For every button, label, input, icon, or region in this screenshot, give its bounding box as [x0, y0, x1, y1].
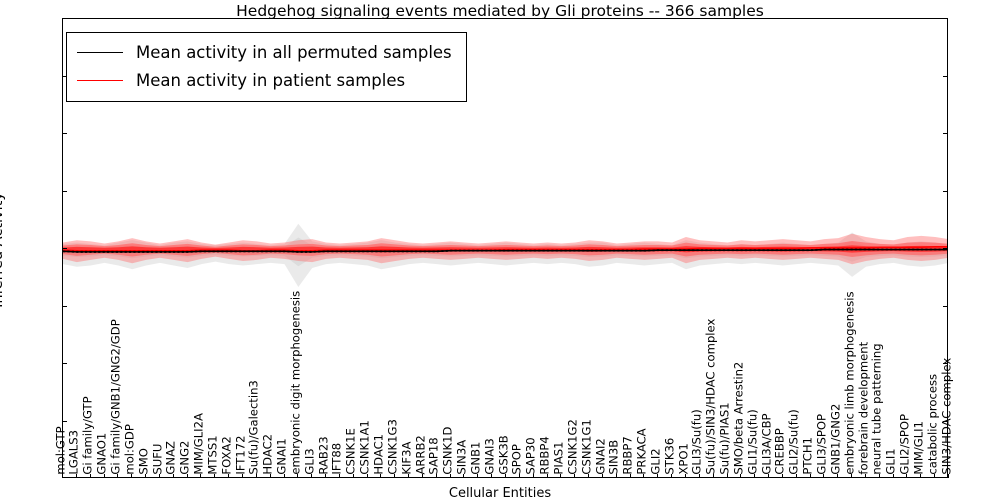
x-tick-label: SAP18	[429, 438, 441, 475]
x-tick-mark	[602, 474, 603, 478]
x-tick-mark	[159, 474, 160, 478]
legend-line-patient-icon	[77, 80, 123, 81]
x-tick-mark	[810, 474, 811, 478]
x-tick-mark	[588, 474, 589, 478]
x-tick-label: IFT172	[235, 436, 247, 475]
x-tick-mark	[256, 474, 257, 478]
x-tick-label: SPOP	[512, 445, 524, 475]
x-tick-label: CSNK1G3	[387, 420, 399, 475]
x-tick-mark	[782, 474, 783, 478]
x-tick-mark	[353, 474, 354, 478]
x-tick-mark	[616, 474, 617, 478]
x-tick-mark	[934, 474, 935, 478]
x-tick-mark	[948, 474, 949, 478]
x-tick-label: GNAI1	[277, 439, 289, 475]
x-tick-label: ARRB2	[415, 436, 427, 475]
x-tick-mark	[657, 474, 658, 478]
x-tick-mark	[200, 474, 201, 478]
y-tick-mark	[62, 421, 67, 422]
x-tick-mark	[76, 474, 77, 478]
x-tick-label: MIM/GLI2A	[193, 413, 205, 475]
x-tick-label: CREBBP	[775, 429, 787, 475]
x-tick-label: embryonic limb morphogenesis	[844, 292, 856, 475]
y-tick-mark	[62, 76, 67, 77]
x-tick-mark	[187, 474, 188, 478]
x-tick-mark	[519, 474, 520, 478]
x-tick-mark	[574, 474, 575, 478]
x-tick-mark	[505, 474, 506, 478]
y-tick-mark	[943, 363, 948, 364]
x-tick-label: IFT88	[332, 443, 344, 475]
x-tick-mark	[920, 474, 921, 478]
x-tick-label: KIF3A	[401, 442, 413, 475]
x-tick-label: SMO/beta Arrestin2	[733, 362, 745, 475]
x-tick-mark	[837, 474, 838, 478]
y-tick-mark	[943, 306, 948, 307]
x-tick-label: SUFU	[152, 444, 164, 475]
figure: Hedgehog signaling events mediated by Gl…	[0, 0, 1000, 500]
x-tick-label: RBBP4	[540, 437, 552, 475]
x-tick-mark	[117, 474, 118, 478]
x-tick-label: FOXA2	[221, 437, 233, 475]
x-tick-mark	[796, 474, 797, 478]
legend-item-permuted: Mean activity in all permuted samples	[77, 38, 452, 66]
x-tick-mark	[62, 474, 63, 478]
x-tick-mark	[131, 474, 132, 478]
x-tick-mark	[906, 474, 907, 478]
x-tick-mark	[436, 474, 437, 478]
y-tick-mark	[943, 76, 948, 77]
x-tick-mark	[450, 474, 451, 478]
x-tick-mark	[463, 474, 464, 478]
x-tick-mark	[408, 474, 409, 478]
x-tick-mark	[699, 474, 700, 478]
y-axis-label: Inferred Activity	[0, 192, 6, 308]
x-tick-mark	[394, 474, 395, 478]
x-tick-label: XPO1	[678, 444, 690, 475]
y-tick-mark	[943, 248, 948, 249]
y-tick-mark	[62, 306, 67, 307]
x-tick-label: CSNK1G2	[567, 420, 579, 475]
x-tick-mark	[685, 474, 686, 478]
x-tick-mark	[879, 474, 880, 478]
x-tick-label: forebrain development	[858, 342, 870, 475]
x-tick-label: SIN3A	[456, 440, 468, 475]
x-tick-label: GLI3/Su(fu)	[692, 410, 704, 475]
x-tick-label: PIAS1	[553, 442, 565, 475]
legend-line-permuted-icon	[77, 52, 123, 53]
x-tick-label: MIM/GLI1	[913, 421, 925, 475]
x-tick-mark	[214, 474, 215, 478]
x-tick-label: embryonic digit morphogenesis	[290, 291, 302, 475]
x-tick-label: catabolic process	[927, 374, 939, 475]
x-tick-label: GNB1	[470, 442, 482, 475]
x-tick-mark	[284, 474, 285, 478]
x-tick-label: Su(fu)/PIAS1	[720, 403, 732, 475]
x-tick-label: GLI2/SPOP	[899, 414, 911, 475]
x-tick-mark	[270, 474, 271, 478]
x-tick-mark	[422, 474, 423, 478]
x-tick-mark	[547, 474, 548, 478]
x-tick-label: GSK3B	[498, 436, 510, 475]
x-tick-mark	[754, 474, 755, 478]
x-tick-mark	[173, 474, 174, 478]
x-tick-label: CSNK1A1	[360, 421, 372, 475]
x-tick-label: Gi family/GNB1/GNG2/GDP	[110, 320, 122, 475]
x-tick-label: GNAI3	[484, 439, 496, 475]
x-tick-label: SIN3B	[609, 440, 621, 475]
y-tick-mark	[943, 421, 948, 422]
x-tick-mark	[145, 474, 146, 478]
y-tick-mark	[62, 191, 67, 192]
x-tick-label: SAP30	[526, 438, 538, 475]
legend-item-patient: Mean activity in patient samples	[77, 66, 452, 94]
x-tick-label: PRKACA	[636, 429, 648, 475]
x-tick-label: neural tube patterning	[872, 344, 884, 475]
x-tick-mark	[491, 474, 492, 478]
x-tick-label: GNB1/GNG2	[830, 404, 842, 475]
legend-label-patient: Mean activity in patient samples	[136, 71, 405, 90]
y-tick-mark	[62, 133, 67, 134]
x-tick-mark	[560, 474, 561, 478]
x-tick-mark	[851, 474, 852, 478]
legend-label-permuted: Mean activity in all permuted samples	[136, 43, 452, 62]
x-tick-mark	[533, 474, 534, 478]
x-tick-label: GLI3	[304, 449, 316, 475]
x-tick-label: GLI1/Su(fu)	[747, 410, 759, 475]
x-tick-label: Su(fu)/Galectin3	[249, 381, 261, 475]
x-tick-label: Gi family/GTP	[83, 397, 95, 475]
x-tick-label: SIN3/HDAC complex	[941, 358, 953, 475]
legend: Mean activity in all permuted samples Me…	[66, 32, 467, 102]
x-tick-mark	[671, 474, 672, 478]
x-tick-mark	[740, 474, 741, 478]
x-tick-mark	[865, 474, 866, 478]
x-tick-label: GLI1	[886, 449, 898, 475]
x-tick-label: GNG2	[180, 441, 192, 475]
x-tick-label: CSNK1E	[346, 429, 358, 475]
x-tick-label: Su(fu)/SIN3/HDAC complex	[706, 319, 718, 475]
y-tick-mark	[62, 248, 67, 249]
x-tick-label: MTSS1	[207, 436, 219, 475]
x-tick-mark	[325, 474, 326, 478]
x-tick-label: HDAC2	[263, 434, 275, 475]
x-tick-mark	[727, 474, 728, 478]
x-tick-label: mol:GTP	[55, 427, 67, 475]
x-tick-mark	[311, 474, 312, 478]
x-tick-label: GNAZ	[166, 441, 178, 475]
x-tick-label: GLI2/Su(fu)	[789, 410, 801, 475]
x-tick-label: GLI2	[650, 449, 662, 475]
x-tick-label: LGALS3	[69, 430, 81, 475]
x-tick-mark	[228, 474, 229, 478]
x-tick-label: SMO	[138, 449, 150, 476]
x-tick-label: GLI3/SPOP	[816, 414, 828, 475]
x-tick-label: GNAI2	[595, 439, 607, 475]
y-tick-mark	[943, 191, 948, 192]
x-tick-mark	[90, 474, 91, 478]
x-tick-label: STK36	[664, 438, 676, 475]
x-tick-mark	[630, 474, 631, 478]
x-tick-mark	[367, 474, 368, 478]
x-tick-label: CSNK1G1	[581, 420, 593, 475]
x-tick-label: GLI3A/CBP	[761, 414, 773, 475]
x-tick-mark	[380, 474, 381, 478]
x-tick-label: GNAO1	[97, 433, 109, 475]
x-tick-label: RAB23	[318, 437, 330, 475]
x-tick-mark	[823, 474, 824, 478]
y-tick-mark	[62, 363, 67, 364]
x-tick-mark	[104, 474, 105, 478]
x-tick-mark	[242, 474, 243, 478]
x-tick-label: RBBP7	[623, 437, 635, 475]
x-tick-mark	[713, 474, 714, 478]
x-tick-label: PTCH1	[803, 437, 815, 475]
x-tick-label: mol:GDP	[124, 425, 136, 475]
x-tick-mark	[297, 474, 298, 478]
x-tick-mark	[643, 474, 644, 478]
y-tick-mark	[943, 133, 948, 134]
x-tick-label: CSNK1D	[443, 427, 455, 475]
x-tick-label: HDAC1	[373, 434, 385, 475]
x-tick-mark	[893, 474, 894, 478]
x-tick-mark	[477, 474, 478, 478]
x-tick-mark	[768, 474, 769, 478]
x-tick-mark	[339, 474, 340, 478]
x-axis-label: Cellular Entities	[449, 486, 551, 501]
